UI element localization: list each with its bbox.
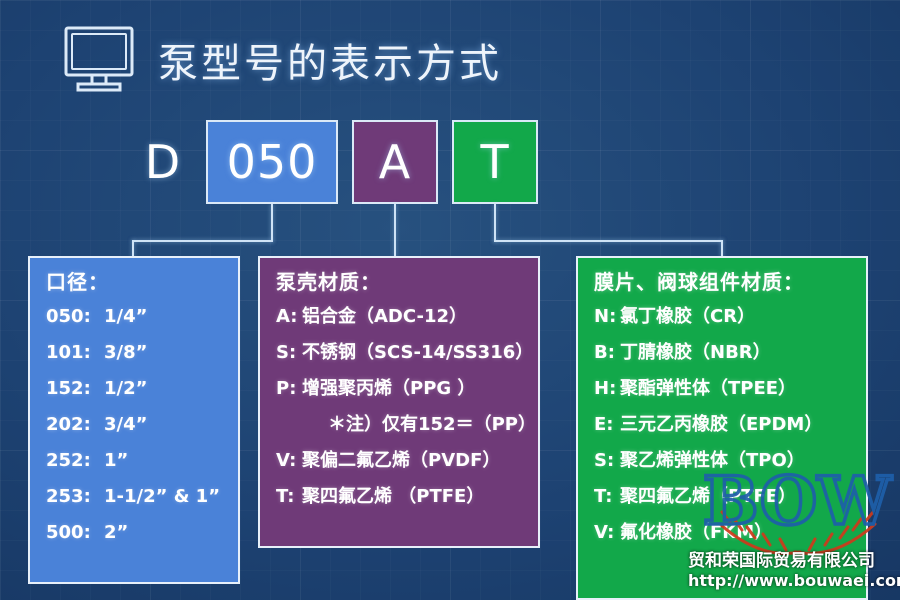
panel-elastomer-rows: N:氯丁橡胶（CR）B:丁腈橡胶（NBR）H:聚酯弹性体（TPEE）E:三元乙丙… — [594, 308, 850, 542]
list-item-value: 聚酯弹性体（TPEE） — [620, 380, 796, 398]
list-item-value: 聚四氟乙烯（PTFE） — [620, 488, 796, 506]
connector-elastomer-horizontal — [494, 240, 723, 242]
list-item-key: V: — [594, 524, 620, 542]
panel-casing-rows: A:铝合金（ADC-12）S:不锈钢（SCS-14/SS316）P:增强聚丙烯（… — [276, 308, 522, 506]
list-item: ＊注）仅有152＝（PP） — [276, 416, 522, 434]
list-item: V:氟化橡胶（FKM） — [594, 524, 850, 542]
monitor-icon — [62, 24, 136, 96]
slide-canvas: 泵型号的表示方式 D 050 A T 口径： 050:1/4”101:3/8”1… — [0, 0, 900, 600]
list-item-key: 101: — [46, 344, 104, 362]
list-item-key: B: — [594, 344, 620, 362]
panel-elastomer-material: 膜片、阀球组件材质： N:氯丁橡胶（CR）B:丁腈橡胶（NBR）H:聚酯弹性体（… — [576, 256, 868, 600]
list-item-key: S: — [276, 344, 302, 362]
list-item: 253:1-1/2” & 1” — [46, 488, 222, 506]
list-item: A:铝合金（ADC-12） — [276, 308, 522, 326]
list-item-key: 202: — [46, 416, 104, 434]
list-item-value: 聚四氟乙烯 （PTFE） — [302, 488, 484, 506]
list-item: T:聚四氟乙烯（PTFE） — [594, 488, 850, 506]
list-item-key: H: — [594, 380, 620, 398]
list-item-key: T: — [594, 488, 620, 506]
list-item-value: 不锈钢（SCS-14/SS316） — [302, 344, 533, 362]
list-item-key: A: — [276, 308, 302, 326]
panel-bore-heading: 口径： — [46, 272, 222, 292]
panel-casing-material: 泵壳材质： A:铝合金（ADC-12）S:不锈钢（SCS-14/SS316）P:… — [258, 256, 540, 548]
list-item: 202:3/4” — [46, 416, 222, 434]
list-item: H:聚酯弹性体（TPEE） — [594, 380, 850, 398]
list-item-key: N: — [594, 308, 620, 326]
list-item: 500:2” — [46, 524, 222, 542]
list-item-key: E: — [594, 416, 620, 434]
list-item-key: 253: — [46, 488, 104, 506]
page-title: 泵型号的表示方式 — [158, 31, 502, 89]
list-item: N:氯丁橡胶（CR） — [594, 308, 850, 326]
list-item: S:不锈钢（SCS-14/SS316） — [276, 344, 522, 362]
list-item-key: 500: — [46, 524, 104, 542]
panel-bore-size: 口径： 050:1/4”101:3/8”152:1/2”202:3/4”252:… — [28, 256, 240, 584]
list-item-value: 3/4” — [104, 416, 147, 434]
list-item-value: 氯丁橡胶（CR） — [620, 308, 755, 326]
list-item-value: ＊注）仅有152＝（PP） — [328, 416, 536, 434]
code-bore-box[interactable]: 050 — [206, 120, 338, 204]
list-item-value: 增强聚丙烯（PPG ） — [302, 380, 475, 398]
list-item-key: P: — [276, 380, 302, 398]
list-item-value: 3/8” — [104, 344, 147, 362]
code-casing-box[interactable]: A — [352, 120, 438, 204]
list-item-value: 1/2” — [104, 380, 147, 398]
list-item-key: 152: — [46, 380, 104, 398]
panel-elastomer-heading: 膜片、阀球组件材质： — [594, 272, 850, 292]
list-item-value: 聚乙烯弹性体（TPO） — [620, 452, 805, 470]
list-item: P:增强聚丙烯（PPG ） — [276, 380, 522, 398]
list-item-key: S: — [594, 452, 620, 470]
list-item-value: 1” — [104, 452, 128, 470]
list-item-value: 铝合金（ADC-12） — [302, 308, 467, 326]
connector-casing-vertical — [394, 204, 396, 258]
connector-bore-horizontal — [132, 240, 273, 242]
list-item: T:聚四氟乙烯 （PTFE） — [276, 488, 522, 506]
connector-elastomer-vertical — [494, 204, 496, 242]
list-item-value: 2” — [104, 524, 128, 542]
code-elastomer-box[interactable]: T — [452, 120, 538, 204]
list-item-value: 三元乙丙橡胶（EPDM） — [620, 416, 822, 434]
list-item-value: 丁腈橡胶（NBR） — [620, 344, 771, 362]
list-item-key: 252: — [46, 452, 104, 470]
list-item: S:聚乙烯弹性体（TPO） — [594, 452, 850, 470]
list-item-key: 050: — [46, 308, 104, 326]
list-item-key — [302, 416, 328, 434]
code-prefix-d: D — [130, 120, 196, 204]
slide-header: 泵型号的表示方式 — [62, 24, 502, 96]
list-item: V:聚偏二氟乙烯（PVDF） — [276, 452, 522, 470]
panel-bore-rows: 050:1/4”101:3/8”152:1/2”202:3/4”252:1”25… — [46, 308, 222, 542]
list-item-value: 1/4” — [104, 308, 147, 326]
list-item-key: T: — [276, 488, 302, 506]
list-item: E:三元乙丙橡胶（EPDM） — [594, 416, 850, 434]
list-item-value: 氟化橡胶（FKM） — [620, 524, 772, 542]
list-item: B:丁腈橡胶（NBR） — [594, 344, 850, 362]
panel-casing-heading: 泵壳材质： — [276, 272, 522, 292]
list-item: 252:1” — [46, 452, 222, 470]
list-item: 152:1/2” — [46, 380, 222, 398]
list-item: 101:3/8” — [46, 344, 222, 362]
list-item: 050:1/4” — [46, 308, 222, 326]
list-item-value: 1-1/2” & 1” — [104, 488, 220, 506]
connector-bore-vertical — [271, 204, 273, 242]
list-item-key: V: — [276, 452, 302, 470]
list-item-value: 聚偏二氟乙烯（PVDF） — [302, 452, 500, 470]
